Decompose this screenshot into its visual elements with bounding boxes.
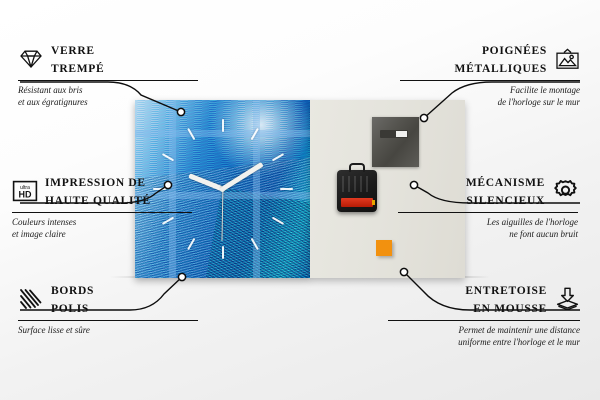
picture-hanger-icon (554, 47, 580, 71)
feature-header: POIGNÉES MÉTALLIQUES (400, 41, 580, 77)
ultra-hd-icon: ultra HD (12, 179, 38, 203)
svg-text:HD: HD (19, 190, 32, 200)
feature-header: ultra HD IMPRESSION DE HAUTE QUALITÉ (12, 173, 192, 209)
feature-header: VERRE TREMPÉ (18, 41, 198, 77)
foam-spacer-icon (554, 287, 580, 311)
diamond-icon (18, 47, 44, 71)
clock-tick (222, 119, 224, 189)
feature-description: Couleurs intenses et image claire (12, 217, 192, 240)
feature-divider (400, 80, 580, 81)
hanger-slot (380, 130, 408, 138)
feature-divider (398, 212, 578, 213)
feature-description: Surface lisse et sûre (18, 325, 198, 337)
mechanism-hook (349, 163, 365, 172)
clock-tick (223, 188, 293, 190)
feature-divider (18, 80, 198, 81)
clock-mechanism (337, 170, 377, 212)
feature-verre-trempe[interactable]: VERRE TREMPÉ Résistant aux bris et aux é… (18, 41, 198, 108)
feature-divider (388, 320, 580, 321)
feature-title: IMPRESSION DE HAUTE QUALITÉ (45, 173, 151, 209)
feature-impression-haute-qualite[interactable]: ultra HD IMPRESSION DE HAUTE QUALITÉ Cou… (12, 173, 192, 240)
feature-poignees-metalliques[interactable]: POIGNÉES MÉTALLIQUES Facilite le montage… (400, 41, 580, 108)
feature-title: POIGNÉES MÉTALLIQUES (455, 41, 547, 77)
mechanism-texture (342, 176, 372, 192)
feature-description: Facilite le montage de l'horloge sur le … (400, 85, 580, 108)
feature-divider (18, 320, 198, 321)
feature-header: BORDS POLIS (18, 281, 198, 317)
feature-header: MÉCANISME SILENCIEUX (398, 173, 578, 209)
feature-title: ENTRETOISE EN MOUSSE (465, 281, 547, 317)
feature-description: Les aiguilles de l'horloge ne font aucun… (398, 217, 578, 240)
feature-mecanisme-silencieux[interactable]: MÉCANISME SILENCIEUX Les aiguilles de l'… (398, 173, 578, 240)
metal-hanger-plate (372, 117, 419, 167)
foam-spacer (376, 240, 392, 256)
feature-header: ENTRETOISE EN MOUSSE (388, 281, 580, 317)
gear-icon (552, 179, 578, 203)
feature-description: Résistant aux bris et aux égratignures (18, 85, 198, 108)
feature-title: MÉCANISME SILENCIEUX (466, 173, 545, 209)
feature-title: BORDS POLIS (51, 281, 94, 317)
feature-title: VERRE TREMPÉ (51, 41, 104, 77)
feature-bords-polis[interactable]: BORDS POLIS Surface lisse et sûre (18, 281, 198, 337)
feature-entretoise-en-mousse[interactable]: ENTRETOISE EN MOUSSE Permet de maintenir… (388, 281, 580, 348)
feature-description: Permet de maintenir une distance uniform… (388, 325, 580, 348)
clock-center-pin (220, 187, 225, 192)
infographic-stage: VERRE TREMPÉ Résistant aux bris et aux é… (0, 0, 600, 400)
feature-divider (12, 212, 192, 213)
battery (341, 198, 373, 207)
polished-edge-icon (18, 287, 44, 311)
